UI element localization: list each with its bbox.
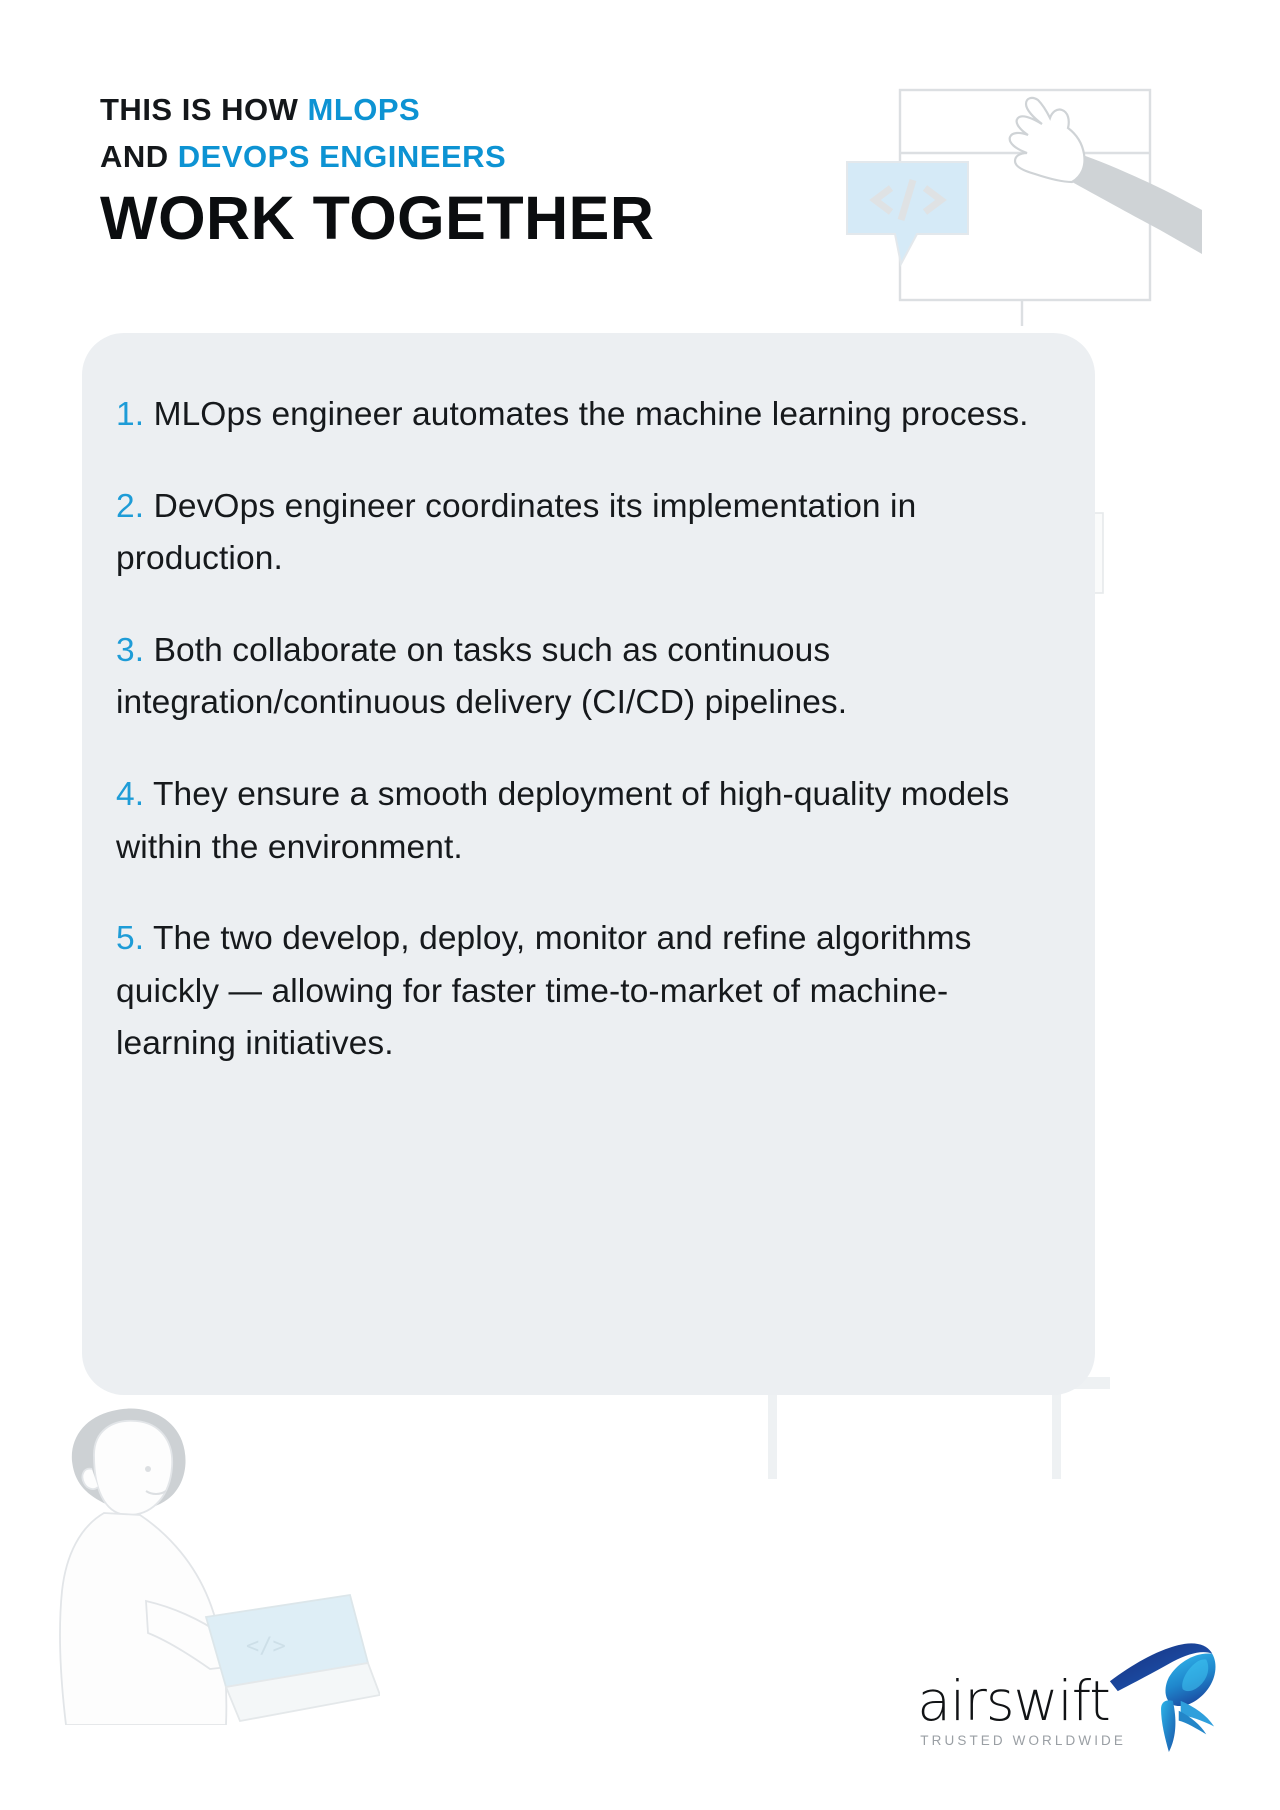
step-number: 2.: [116, 488, 144, 525]
logo-wordmark: airswift: [917, 1675, 1126, 1729]
list-item: 5. The two develop, deploy, monitor and …: [116, 913, 1035, 1071]
page-heading: THIS IS HOW MLOPS AND DEVOPS ENGINEERS W…: [100, 86, 654, 252]
svg-text:</>: </>: [246, 1634, 286, 1659]
page-title: WORK TOGETHER: [100, 186, 654, 252]
logo-tagline: TRUSTED WORLDWIDE: [917, 1733, 1126, 1748]
person-with-laptop-illustration: </>: [50, 1395, 380, 1725]
logo-text-block: airswift TRUSTED WORLDWIDE: [917, 1675, 1126, 1748]
heading-kicker-line1-highlight: MLOPS: [308, 92, 421, 127]
heading-kicker-line2-highlight: DEVOPS ENGINEERS: [178, 139, 506, 174]
airswift-logo: airswift TRUSTED WORLDWIDE: [917, 1636, 1222, 1748]
step-number: 1.: [116, 396, 144, 433]
step-text: DevOps engineer coordinates its implemen…: [116, 488, 916, 578]
step-number: 3.: [116, 632, 144, 669]
heading-kicker: THIS IS HOW MLOPS AND DEVOPS ENGINEERS: [100, 86, 654, 180]
list-item: 2. DevOps engineer coordinates its imple…: [116, 481, 1035, 586]
heading-kicker-line-2: AND DEVOPS ENGINEERS: [100, 133, 654, 180]
list-item: 4. They ensure a smooth deployment of hi…: [116, 769, 1035, 874]
step-number: 4.: [116, 776, 144, 813]
heading-kicker-line1-plain: THIS IS HOW: [100, 92, 308, 127]
steps-card: 1. MLOps engineer automates the machine …: [82, 333, 1095, 1395]
heading-kicker-line2-plain: AND: [100, 139, 178, 174]
step-text: The two develop, deploy, monitor and ref…: [116, 920, 971, 1062]
code-speech-bubble-icon: [845, 160, 970, 270]
step-text: Both collaborate on tasks such as contin…: [116, 632, 847, 722]
list-item: 1. MLOps engineer automates the machine …: [116, 389, 1035, 442]
heading-kicker-line-1: THIS IS HOW MLOPS: [100, 86, 654, 133]
list-item: 3. Both collaborate on tasks such as con…: [116, 625, 1035, 730]
steps-list: 1. MLOps engineer automates the machine …: [82, 333, 1095, 1071]
whiteboard-with-hand-illustration: [872, 58, 1202, 328]
step-number: 5.: [116, 920, 144, 957]
step-text: MLOps engineer automates the machine lea…: [154, 396, 1029, 433]
step-text: They ensure a smooth deployment of high-…: [116, 776, 1009, 866]
